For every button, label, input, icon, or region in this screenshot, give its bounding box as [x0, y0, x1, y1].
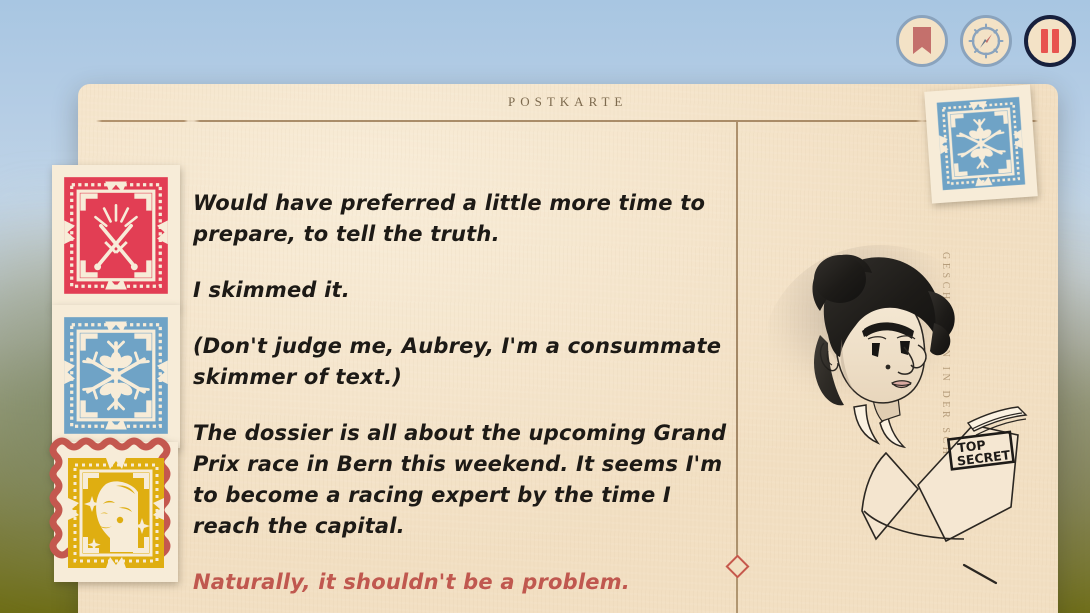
game-scene: POSTKARTE Would have preferred a little … — [0, 0, 1090, 613]
letter-paragraph: (Don't judge me, Aubrey, I'm a consummat… — [193, 331, 738, 393]
postcard-side-caption: GESCHRIEBEN IN DER SCHWEIZ — [940, 252, 951, 497]
stamp-snowflake-art — [62, 315, 170, 436]
compass-button[interactable] — [960, 15, 1012, 67]
letter-paragraph: The dossier is all about the upcoming Gr… — [193, 418, 738, 542]
top-secret-line2: SECRET — [956, 447, 1011, 468]
postcard-header-rule — [96, 120, 1038, 122]
stamp-snowflake-corner — [924, 84, 1038, 203]
letter-paragraph-accent: Naturally, it shouldn't be a problem. — [193, 567, 738, 598]
stamp-crossed-blades-art — [62, 175, 170, 296]
stamp-crossed-blades — [52, 165, 180, 308]
letter-paragraph: Would have preferred a little more time … — [193, 188, 738, 250]
letter-body: Would have preferred a little more time … — [193, 188, 738, 598]
top-secret-line1: TOP — [957, 437, 987, 455]
stamp-portrait — [46, 434, 186, 590]
postcard-title: POSTKARTE — [508, 94, 627, 110]
bookmark-icon — [910, 26, 934, 56]
journal-button[interactable] — [896, 15, 948, 67]
letter-paragraph: I skimmed it. — [193, 275, 738, 306]
pause-button[interactable] — [1024, 15, 1076, 67]
compass-icon — [967, 22, 1005, 60]
stamp-snowflake — [52, 305, 180, 448]
stamp-portrait-art — [46, 434, 186, 590]
pause-icon — [1039, 29, 1061, 53]
hud-button-bar — [896, 15, 1076, 67]
postcard[interactable]: POSTKARTE Would have preferred a little … — [78, 84, 1058, 613]
stamp-snowflake-corner-art — [935, 95, 1027, 192]
character-reading-dossier: TOP SECRET — [768, 239, 1048, 613]
